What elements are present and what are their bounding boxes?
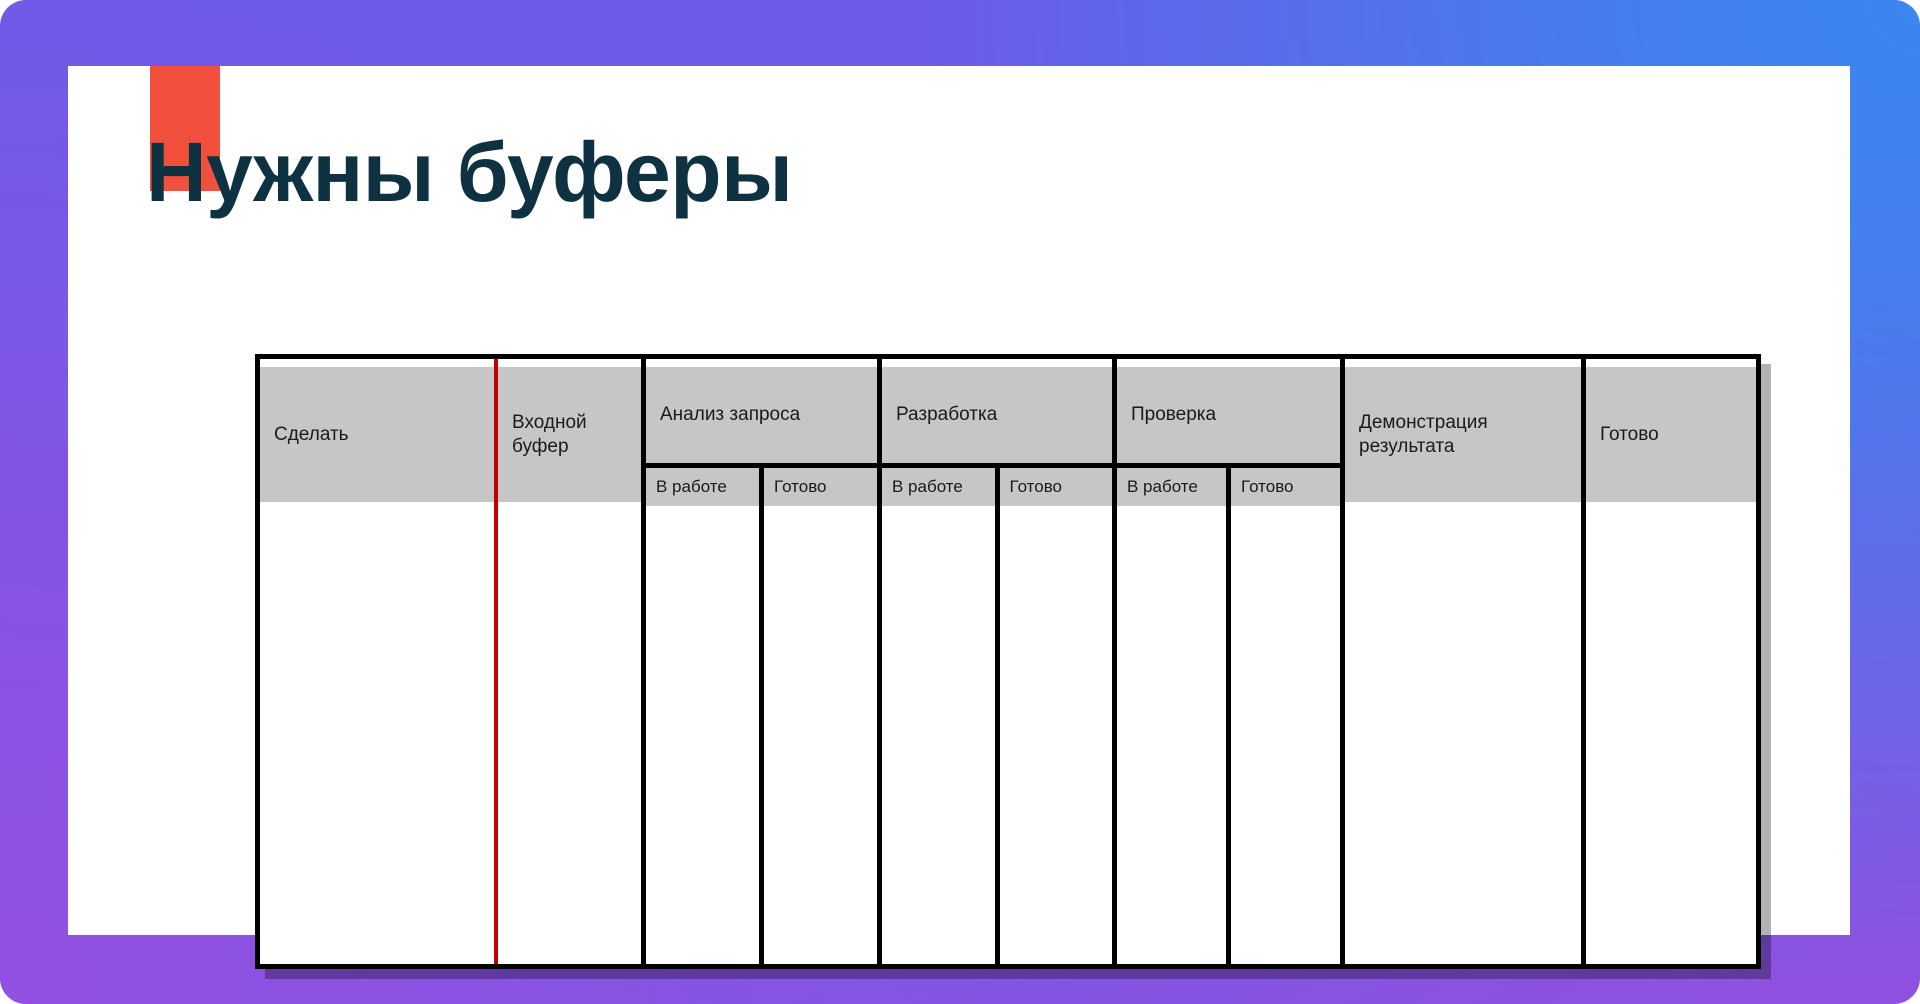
board-subcolumn-body-analysis-done[interactable] xyxy=(764,506,877,964)
header-spacer xyxy=(498,359,641,367)
board-column-label-testing: Проверка xyxy=(1131,403,1216,427)
board-column-label-development: Разработка xyxy=(896,403,997,427)
board-column-label-result-demo: Демонстрация результата xyxy=(1359,411,1549,459)
board-subcolumn-body-development-in-progress[interactable] xyxy=(882,506,995,964)
board-column-request-analysis[interactable]: Анализ запроса В работе Готово xyxy=(646,359,882,964)
board-column-body-done[interactable] xyxy=(1586,502,1756,964)
header-spacer xyxy=(1345,359,1581,367)
header-spacer xyxy=(1117,359,1340,367)
board-column-header-result-demo: Демонстрация результата xyxy=(1345,367,1581,502)
board-subcolumn-body-analysis-in-progress[interactable] xyxy=(646,506,759,964)
board-column-development[interactable]: Разработка В работе Готово xyxy=(882,359,1117,964)
board-column-label-done: Готово xyxy=(1600,423,1659,447)
board-subcolumn-development-done[interactable]: Готово xyxy=(1000,468,1113,964)
board-subcolumn-header-analysis-done: Готово xyxy=(764,468,877,506)
board-subcolumn-body-development-done[interactable] xyxy=(1000,506,1113,964)
board-subcolumn-header-testing-in-progress: В работе xyxy=(1117,468,1226,506)
board-subcolumn-testing-done[interactable]: Готово xyxy=(1231,468,1340,964)
board-subcolumn-header-development-in-progress: В работе xyxy=(882,468,995,506)
board-column-header-to-do: Сделать xyxy=(260,367,494,502)
board-column-result-demo[interactable]: Демонстрация результата xyxy=(1345,359,1586,964)
board-subcolumn-header-analysis-in-progress: В работе xyxy=(646,468,759,506)
board-subcolumn-header-testing-done: Готово xyxy=(1231,468,1340,506)
board-subcolumn-body-testing-done[interactable] xyxy=(1231,506,1340,964)
header-spacer xyxy=(260,359,494,367)
board-column-testing[interactable]: Проверка В работе Готово xyxy=(1117,359,1345,964)
page-title-text: Нужны буферы xyxy=(146,124,792,220)
board-column-header-testing: Проверка xyxy=(1117,367,1340,463)
board-subcolumn-row-request-analysis: В работе Готово xyxy=(646,463,877,964)
board-subcolumn-analysis-in-progress[interactable]: В работе xyxy=(646,468,764,964)
board-column-body-result-demo[interactable] xyxy=(1345,502,1581,964)
slide-background: Нужны буферы Сделать Входной буфер xyxy=(0,0,1920,1004)
header-spacer xyxy=(646,359,877,367)
board-column-header-development: Разработка xyxy=(882,367,1112,463)
board-subcolumn-testing-in-progress[interactable]: В работе xyxy=(1117,468,1231,964)
board-column-header-input-buffer: Входной буфер xyxy=(498,367,641,502)
board-subcolumn-row-testing: В работе Готово xyxy=(1117,463,1340,964)
board-column-to-do[interactable]: Сделать xyxy=(260,359,494,964)
board-column-label-to-do: Сделать xyxy=(274,423,349,447)
board-column-label-request-analysis: Анализ запроса xyxy=(660,403,800,427)
header-spacer xyxy=(1586,359,1756,367)
header-spacer xyxy=(882,359,1112,367)
board-subcolumn-body-testing-in-progress[interactable] xyxy=(1117,506,1226,964)
board-subcolumn-row-development: В работе Готово xyxy=(882,463,1112,964)
board-column-input-buffer[interactable]: Входной буфер xyxy=(498,359,646,964)
slide-card: Нужны буферы Сделать Входной буфер xyxy=(68,66,1850,935)
board-column-done[interactable]: Готово xyxy=(1586,359,1756,964)
board-subcolumn-development-in-progress[interactable]: В работе xyxy=(882,468,1000,964)
board-column-header-done: Готово xyxy=(1586,367,1756,502)
board-column-label-input-buffer: Входной буфер xyxy=(512,411,627,459)
board-column-body-input-buffer[interactable] xyxy=(498,502,641,964)
board-subcolumn-header-development-done: Готово xyxy=(1000,468,1113,506)
board-subcolumn-analysis-done[interactable]: Готово xyxy=(764,468,877,964)
board-column-body-to-do[interactable] xyxy=(260,502,494,964)
kanban-board: Сделать Входной буфер Анализ запроса xyxy=(255,354,1761,969)
board-column-header-request-analysis: Анализ запроса xyxy=(646,367,877,463)
